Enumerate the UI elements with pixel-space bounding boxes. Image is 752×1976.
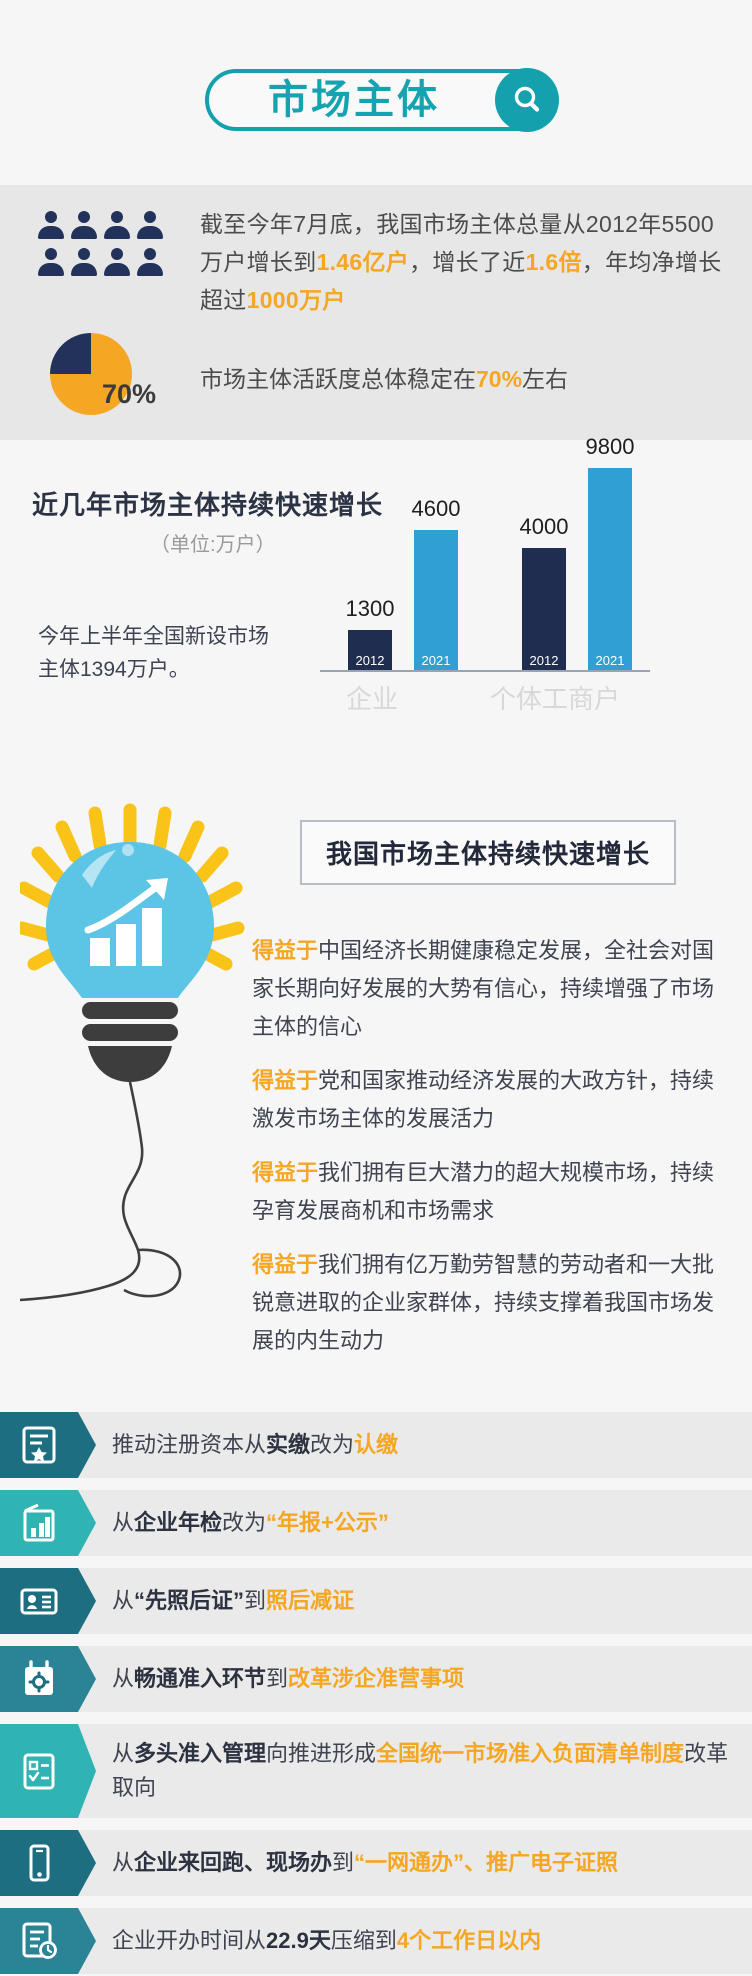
reform-list-section: 推动注册资本从实缴改为认缴 从企业年检改为“年报+公示” — [0, 1400, 752, 1976]
bar-qiye-2012: 1300 2012 — [348, 630, 392, 670]
infographic-page: 市场主体 截至今年7月底，我国市场主体总量从201 — [0, 0, 752, 1976]
seg: 从 — [112, 1850, 134, 1875]
header-section: 市场主体 — [0, 0, 752, 185]
checklist-icon — [0, 1724, 92, 1818]
stat-seg-2: ，增长了近 — [409, 249, 526, 275]
seg: 改为 — [310, 1432, 354, 1457]
bar-year: 2021 — [414, 653, 458, 668]
page-title: 市场主体 — [268, 72, 440, 128]
activity-caption: 市场主体活跃度总体稳定在70%左右 — [200, 360, 568, 394]
reason-item-1: 得益于中国经济长期健康稳定发展，全社会对国家长期向好发展的大势有信心，持续增强了… — [252, 932, 732, 1046]
seg: 认缴 — [354, 1432, 398, 1457]
reason-body: 党和国家推动经济发展的大政方针，持续激发市场主体的发展活力 — [252, 1068, 714, 1131]
row-text: 从多头准入管理向推进形成全国统一市场准入负面清单制度改革取向 — [112, 1737, 732, 1805]
seg: 到 — [244, 1588, 266, 1613]
reason-lead: 得益于 — [252, 1160, 318, 1185]
list-item[interactable]: 企业开办时间从22.9天压缩到4个工作日以内 — [0, 1908, 752, 1974]
bar-value: 4000 — [520, 514, 569, 540]
seg: 向推进形成 — [266, 1741, 376, 1766]
pie-percent-label: 70% — [102, 379, 156, 410]
seg: 改革涉企准营事项 — [288, 1666, 464, 1691]
seg: 22.9天 — [266, 1928, 331, 1953]
list-item[interactable]: 从企业年检改为“年报+公示” — [0, 1490, 752, 1556]
bar-value: 1300 — [346, 596, 395, 622]
bar-getihu-2012: 4000 2012 — [522, 548, 566, 670]
bar-qiye-2021: 4600 2021 — [414, 530, 458, 670]
list-item[interactable]: 从“先照后证”到照后减证 — [0, 1568, 752, 1634]
seg: “年报+公示” — [266, 1510, 389, 1535]
seg: 压缩到 — [331, 1928, 397, 1953]
reasons-title: 我国市场主体持续快速增长 — [326, 839, 650, 869]
reason-item-3: 得益于我们拥有巨大潜力的超大规模市场，持续孕育发展商机和市场需求 — [252, 1154, 732, 1230]
pie-cap-1: 70% — [476, 366, 522, 392]
stat-seg-5: 1000万户 — [247, 287, 346, 313]
seg: 照后减证 — [266, 1588, 354, 1613]
row-text: 从企业年检改为“年报+公示” — [112, 1506, 732, 1540]
reason-body: 我们拥有巨大潜力的超大规模市场，持续孕育发展商机和市场需求 — [252, 1160, 714, 1223]
bar-year: 2012 — [348, 653, 392, 668]
seg: 从 — [112, 1666, 134, 1691]
seg: “一网通办”、推广电子证照 — [354, 1850, 618, 1875]
list-item[interactable]: 从多头准入管理向推进形成全国统一市场准入负面清单制度改革取向 — [0, 1724, 752, 1818]
reason-lead: 得益于 — [252, 938, 318, 963]
lightbulb-growth-icon — [20, 780, 270, 1340]
list-item[interactable]: 从企业来回跑、现场办到“一网通办”、推广电子证照 — [0, 1830, 752, 1896]
reason-body: 我们拥有亿万勤劳智慧的劳动者和一大批锐意进取的企业家群体，持续支撑着我国市场发展… — [252, 1252, 714, 1353]
row-text: 企业开办时间从22.9天压缩到4个工作日以内 — [112, 1924, 732, 1958]
row-text: 从畅通准入环节到改革涉企准营事项 — [112, 1662, 732, 1696]
row-text: 推动注册资本从实缴改为认缴 — [112, 1428, 732, 1462]
seg: 到 — [332, 1850, 354, 1875]
reason-item-4: 得益于我们拥有亿万勤劳智慧的劳动者和一大批锐意进取的企业家群体，持续支撑着我国市… — [252, 1246, 732, 1360]
building-chart-icon — [0, 1490, 92, 1556]
seg: 企业来回跑、现场办 — [134, 1850, 332, 1875]
document-clock-icon — [0, 1908, 92, 1974]
pie-cap-0: 市场主体活跃度总体稳定在 — [200, 366, 476, 392]
stat-seg-3: 1.6倍 — [526, 249, 582, 275]
bar-plot: 1300 2012 4600 2021 4000 2012 9800 2021 — [320, 458, 650, 718]
reason-lead: 得益于 — [252, 1252, 318, 1277]
seg: 从 — [112, 1741, 134, 1766]
x-axis — [320, 670, 650, 672]
pie-cap-2: 左右 — [522, 366, 568, 392]
bar-value: 9800 — [586, 434, 635, 460]
seg: 全国统一市场准入负面清单制度 — [376, 1741, 684, 1766]
mobile-phone-icon — [0, 1830, 92, 1896]
seg: 从 — [112, 1588, 134, 1613]
reason-lead: 得益于 — [252, 1068, 318, 1093]
seg: 4个工作日以内 — [397, 1928, 541, 1953]
reason-item-2: 得益于党和国家推动经济发展的大政方针，持续激发市场主体的发展活力 — [252, 1062, 732, 1138]
reasons-section: 我国市场主体持续快速增长 得益于中国经济长期健康稳定发展，全社会对国家长期向好发… — [0, 760, 752, 1400]
category-label-getihu: 个体工商户 — [490, 679, 620, 716]
stat-seg-1: 1.46亿户 — [317, 249, 410, 275]
calendar-gear-icon — [0, 1646, 92, 1712]
list-item[interactable]: 从畅通准入环节到改革涉企准营事项 — [0, 1646, 752, 1712]
seg: 企业开办时间从 — [112, 1928, 266, 1953]
bar-year: 2021 — [588, 653, 632, 668]
bar-year: 2012 — [522, 653, 566, 668]
seg: 畅通准入环节 — [134, 1666, 266, 1691]
total-entities-paragraph: 截至今年7月底，我国市场主体总量从2012年5500万户增长到1.46亿户，增长… — [200, 205, 730, 319]
activity-pie-chart: 70% — [50, 333, 160, 418]
search-icon[interactable] — [495, 68, 559, 132]
document-star-icon — [0, 1412, 92, 1478]
seg: 从 — [112, 1510, 134, 1535]
seg: 到 — [266, 1666, 288, 1691]
id-card-icon — [0, 1568, 92, 1634]
seg: 改为 — [222, 1510, 266, 1535]
bar-value: 4600 — [412, 496, 461, 522]
seg: 多头准入管理 — [134, 1741, 266, 1766]
seg: 推动注册资本从 — [112, 1432, 266, 1457]
reasons-title-box: 我国市场主体持续快速增长 — [300, 820, 676, 885]
reason-body: 中国经济长期健康稳定发展，全社会对国家长期向好发展的大势有信心，持续增强了市场主… — [252, 938, 714, 1039]
list-item[interactable]: 推动注册资本从实缴改为认缴 — [0, 1412, 752, 1478]
chart-section: 近几年市场主体持续快速增长 （单位:万户） 今年上半年全国新设市场主体1394万… — [0, 440, 752, 760]
seg: 实缴 — [266, 1432, 310, 1457]
seg: “先照后证” — [134, 1588, 244, 1613]
category-label-qiye: 企业 — [346, 679, 398, 716]
chart-subtitle: （单位:万户） — [150, 528, 276, 557]
seg: 企业年检 — [134, 1510, 222, 1535]
row-text: 从“先照后证”到照后减证 — [112, 1584, 732, 1618]
people-group-icon — [38, 211, 168, 285]
row-text: 从企业来回跑、现场办到“一网通办”、推广电子证照 — [112, 1846, 732, 1880]
chart-note: 今年上半年全国新设市场主体1394万户。 — [38, 620, 288, 686]
stats-section: 截至今年7月底，我国市场主体总量从2012年5500万户增长到1.46亿户，增长… — [0, 185, 752, 440]
bar-getihu-2021: 9800 2021 — [588, 468, 632, 670]
